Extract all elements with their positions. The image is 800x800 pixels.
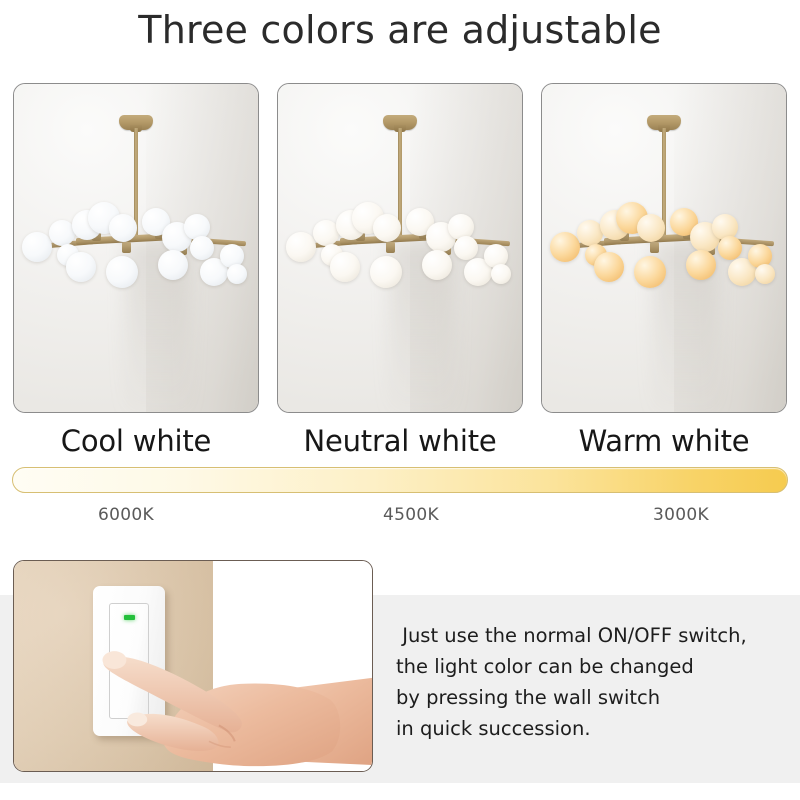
instruction-line-2: the light color can be changed	[396, 651, 786, 682]
color-label-neutral-white: Neutral white	[277, 424, 523, 458]
wall-switch-press-photo	[13, 560, 373, 772]
color-name-labels: Cool white Neutral white Warm white	[13, 424, 787, 458]
socket-node	[386, 242, 395, 253]
light-globe	[158, 250, 188, 280]
socket-node	[650, 242, 659, 253]
color-label-warm-white: Warm white	[541, 424, 787, 458]
instruction-line-3: by pressing the wall switch	[396, 682, 786, 713]
light-globe	[637, 214, 665, 242]
instruction-line-1: Just use the normal ON/OFF switch,	[396, 620, 786, 651]
chandelier-fixture-neutral	[278, 84, 522, 412]
light-globe	[286, 232, 316, 262]
socket-node	[122, 242, 131, 253]
switch-photo-background	[14, 561, 372, 771]
color-cards-row	[13, 83, 787, 413]
kelvin-tick-3000k: 3000K	[653, 505, 709, 525]
chandelier-warm-white-photo	[541, 83, 787, 413]
kelvin-tick-row: 6000K 4500K 3000K	[0, 505, 800, 529]
light-globe	[66, 252, 96, 282]
light-globe	[491, 264, 511, 284]
instruction-text-block: Just use the normal ON/OFF switch, the l…	[396, 620, 786, 744]
light-globe	[109, 214, 137, 242]
light-globe	[22, 232, 52, 262]
light-globe	[550, 232, 580, 262]
light-globe	[686, 250, 716, 280]
light-globe	[718, 236, 742, 260]
light-globe	[454, 236, 478, 260]
light-globe	[755, 264, 775, 284]
light-globe	[330, 252, 360, 282]
light-globe	[634, 256, 666, 288]
hand-pressing-switch	[14, 561, 372, 771]
kelvin-tick-4500k: 4500K	[383, 505, 439, 525]
light-globe	[190, 236, 214, 260]
chandelier-fixture-cool	[14, 84, 258, 412]
light-globe	[106, 256, 138, 288]
instruction-line-4: in quick succession.	[396, 713, 786, 744]
chandelier-fixture-warm	[542, 84, 786, 412]
light-globe	[422, 250, 452, 280]
color-temperature-gradient-bar	[12, 467, 788, 493]
light-globe	[370, 256, 402, 288]
chandelier-neutral-white-photo	[277, 83, 523, 413]
light-globe	[594, 252, 624, 282]
page-title: Three colors are adjustable	[0, 8, 800, 52]
light-globe	[227, 264, 247, 284]
color-label-cool-white: Cool white	[13, 424, 259, 458]
light-globe	[373, 214, 401, 242]
chandelier-cool-white-photo	[13, 83, 259, 413]
kelvin-tick-6000k: 6000K	[98, 505, 154, 525]
